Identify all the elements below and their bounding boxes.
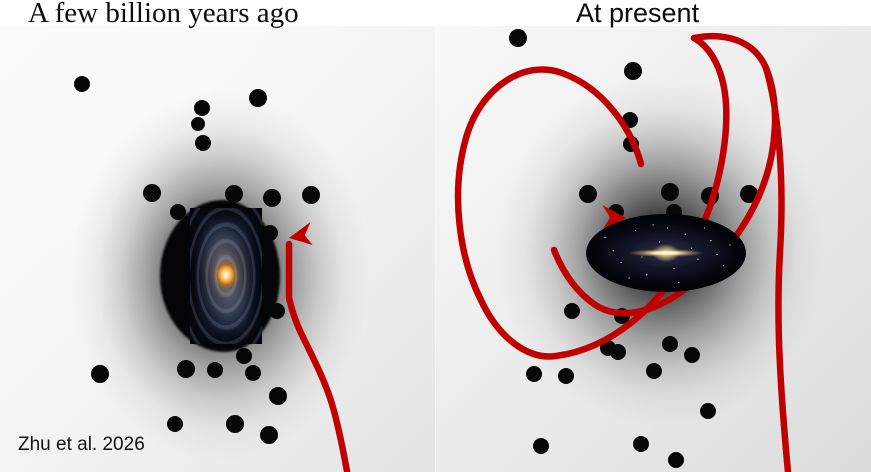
panel-present	[436, 26, 871, 472]
panel-past	[0, 26, 436, 472]
panel-present-title: At present	[576, 0, 699, 26]
spiral-arms-overlay	[190, 208, 262, 344]
edge-on-galaxy-image	[586, 214, 746, 292]
star-field-overlay	[586, 214, 746, 292]
galaxy-evolution-figure: A few billion years ago At present Zhu e…	[0, 0, 871, 472]
citation-label: Zhu et al. 2026	[18, 434, 145, 456]
panel-past-title: A few billion years ago	[28, 0, 299, 26]
edge-on-disk-galaxy	[586, 214, 746, 292]
spiral-galaxy-image	[190, 208, 262, 344]
face-on-spiral-galaxy	[174, 204, 270, 348]
panel-divider	[435, 26, 436, 472]
